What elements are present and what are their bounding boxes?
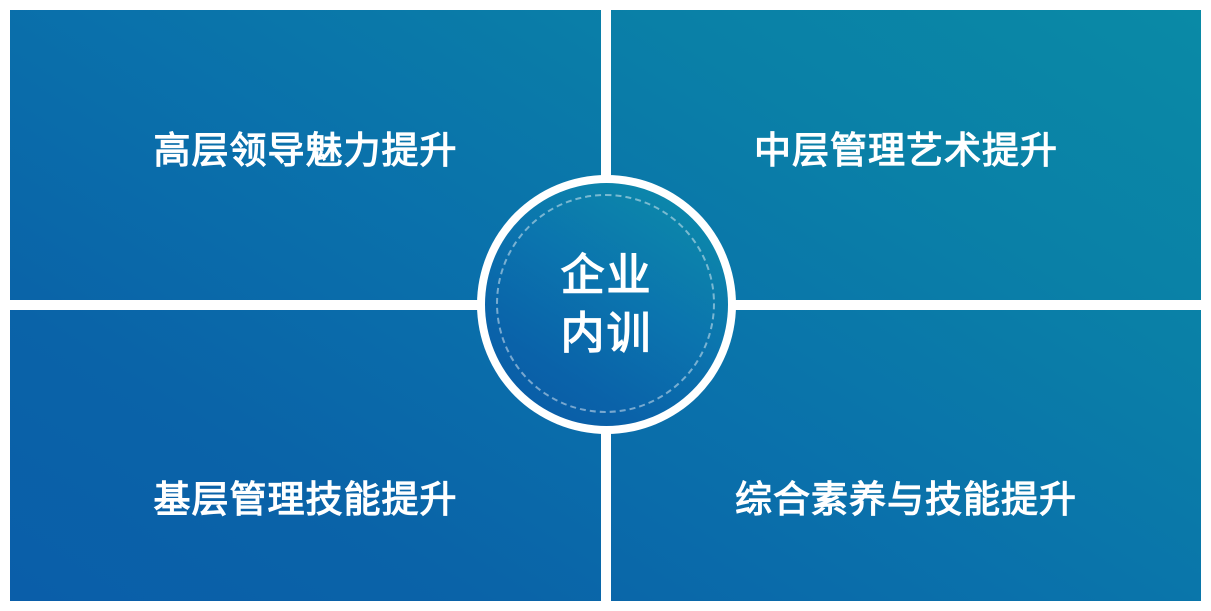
quadrant-bottom-left-label: 基层管理技能提升 (154, 480, 458, 521)
quadrant-top-right-label: 中层管理艺术提升 (754, 131, 1058, 172)
quadrant-bottom-right-label: 综合素养与技能提升 (735, 480, 1077, 521)
infographic-root: 高层领导魅力提升 中层管理艺术提升 基层管理技能提升 综合素养与技能提升 企业 … (0, 0, 1211, 611)
center-hub-line-1: 企业 (561, 247, 653, 305)
quadrant-top-left-label: 高层领导魅力提升 (154, 131, 458, 172)
center-hub[interactable]: 企业 内训 (477, 175, 736, 434)
center-hub-label: 企业 内训 (561, 247, 653, 363)
center-hub-disc: 企业 内训 (485, 183, 728, 426)
center-hub-line-2: 内训 (561, 305, 653, 363)
